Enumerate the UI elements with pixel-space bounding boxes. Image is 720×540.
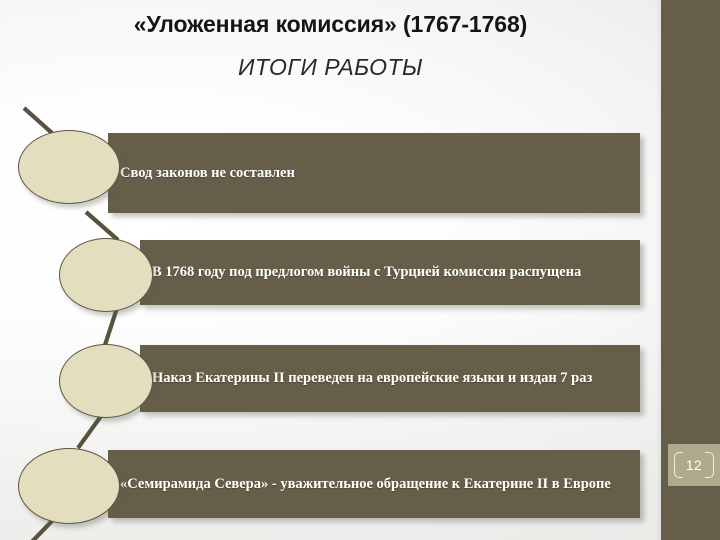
diagram-node-4[interactable] [18, 448, 120, 524]
diagram-node-2[interactable] [59, 238, 153, 312]
diagram-bar-4-text: «Семирамида Севера» - уважительное обращ… [108, 475, 625, 493]
diagram-bar-2[interactable]: В 1768 году под предлогом войны с Турцие… [140, 240, 640, 305]
diagram-bar-1[interactable]: Свод законов не составлен [108, 133, 640, 213]
diagram-bar-1-text: Свод законов не составлен [108, 164, 309, 182]
diagram-bar-4[interactable]: «Семирамида Севера» - уважительное обращ… [108, 450, 640, 518]
diagram-bar-3[interactable]: Наказ Екатерины II переведен на европейс… [140, 345, 640, 412]
diagram-node-3[interactable] [59, 344, 153, 418]
results-diagram: Свод законов не составлен В 1768 году по… [0, 0, 720, 540]
diagram-bar-3-text: Наказ Екатерины II переведен на европейс… [140, 369, 606, 387]
diagram-bar-2-text: В 1768 году под предлогом войны с Турцие… [140, 263, 595, 281]
diagram-node-1[interactable] [18, 130, 120, 204]
slide-canvas: 12 «Уложенная комиссия» (1767-1768) ИТОГ… [0, 0, 720, 540]
